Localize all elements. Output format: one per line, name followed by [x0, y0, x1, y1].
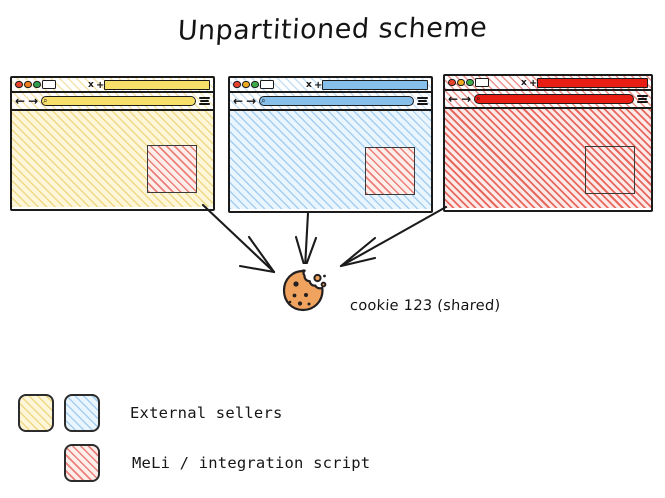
- search-icon: ⌕: [43, 96, 47, 106]
- toolbar-yellow[interactable]: ← → ⌕: [12, 93, 213, 111]
- forward-icon[interactable]: →: [28, 95, 38, 107]
- tab-strip-yellow[interactable]: x +: [12, 78, 213, 93]
- tab-placeholder[interactable]: [260, 80, 274, 89]
- active-tab-yellow[interactable]: [104, 80, 210, 90]
- search-icon: ⌕: [476, 94, 480, 104]
- close-dot-icon[interactable]: [15, 81, 23, 89]
- browser-window-yellow[interactable]: x + ← → ⌕: [10, 76, 215, 211]
- minimize-dot-icon[interactable]: [457, 79, 465, 87]
- forward-icon[interactable]: →: [461, 93, 471, 105]
- diagram-canvas: Unpartitioned scheme x + ← → ⌕: [0, 0, 665, 498]
- minimize-dot-icon[interactable]: [24, 81, 32, 89]
- embedded-script-box-yellow: [147, 145, 197, 193]
- address-bar-blue[interactable]: ⌕: [259, 96, 414, 106]
- tab-placeholder[interactable]: [42, 80, 56, 89]
- browser-window-blue[interactable]: x + ← → ⌕: [228, 76, 433, 213]
- search-icon: ⌕: [261, 96, 265, 106]
- maximize-dot-icon[interactable]: [33, 81, 41, 89]
- maximize-dot-icon[interactable]: [466, 79, 474, 87]
- active-tab-blue[interactable]: [322, 80, 428, 90]
- toolbar-blue[interactable]: ← → ⌕: [230, 93, 431, 111]
- viewport-blue: [230, 111, 431, 209]
- close-dot-icon[interactable]: [448, 79, 456, 87]
- back-icon[interactable]: ←: [448, 93, 458, 105]
- arrow-yellow-to-cookie: [203, 205, 274, 272]
- hamburger-menu-icon[interactable]: [637, 95, 648, 103]
- hamburger-menu-icon[interactable]: [417, 97, 428, 105]
- tab-close-icon[interactable]: x: [88, 79, 94, 92]
- hamburger-menu-icon[interactable]: [199, 97, 210, 105]
- embedded-script-box-blue: [365, 147, 415, 195]
- viewport-yellow: [12, 111, 213, 207]
- back-icon[interactable]: ←: [233, 95, 243, 107]
- window-controls-red[interactable]: [448, 78, 489, 87]
- window-controls-blue[interactable]: [233, 80, 274, 89]
- address-bar-red[interactable]: ⌕: [474, 94, 634, 104]
- address-bar-yellow[interactable]: ⌕: [41, 96, 196, 106]
- tab-strip-red[interactable]: x +: [445, 76, 651, 91]
- viewport-red: [445, 109, 651, 208]
- page-title: Unpartitioned scheme: [0, 11, 665, 49]
- legend-swatch-yellow: [18, 394, 54, 432]
- tab-close-icon[interactable]: x: [306, 79, 312, 92]
- window-controls-yellow[interactable]: [15, 80, 56, 89]
- cookie-glyph: [276, 264, 330, 318]
- tab-placeholder[interactable]: [475, 78, 489, 87]
- toolbar-red[interactable]: ← → ⌕: [445, 91, 651, 109]
- active-tab-red[interactable]: [537, 78, 648, 88]
- arrow-blue-to-cookie: [296, 213, 316, 268]
- arrow-red-to-cookie: [341, 207, 446, 266]
- tab-strip-blue[interactable]: x +: [230, 78, 431, 93]
- minimize-dot-icon[interactable]: [242, 81, 250, 89]
- embedded-script-box-red: [585, 146, 635, 194]
- legend-label-external-sellers: External sellers: [130, 404, 283, 422]
- legend-swatch-red: [64, 444, 100, 482]
- cookie-label: cookie 123 (shared): [350, 298, 501, 314]
- back-icon[interactable]: ←: [15, 95, 25, 107]
- forward-icon[interactable]: →: [246, 95, 256, 107]
- legend-row-meli: MeLi / integration script: [64, 444, 370, 482]
- legend-row-external-sellers: External sellers: [18, 394, 283, 432]
- maximize-dot-icon[interactable]: [251, 81, 259, 89]
- close-dot-icon[interactable]: [233, 81, 241, 89]
- browser-window-red[interactable]: x + ← → ⌕: [443, 74, 653, 212]
- legend-label-meli: MeLi / integration script: [132, 454, 370, 472]
- tab-close-icon[interactable]: x: [521, 77, 527, 90]
- legend-swatch-blue: [64, 394, 100, 432]
- cookie-icon: [276, 264, 330, 318]
